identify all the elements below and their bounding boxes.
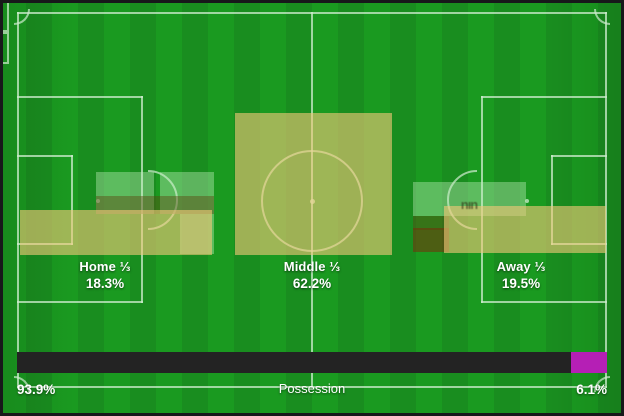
possession-bar <box>17 352 607 373</box>
home-third-name: Home ⅓ <box>15 258 195 275</box>
home-third-label-group: Home ⅓ 18.3% <box>15 258 195 292</box>
goal-area-left-top-line <box>17 155 73 157</box>
possession-label: Possession <box>17 378 607 400</box>
pitch-visualization: nın Home ⅓ 18.3% Middle ⅓ 62.2% Away ⅓ 1… <box>0 0 624 416</box>
home-third-value: 18.3% <box>15 275 195 292</box>
middle-third-territory-block <box>235 113 392 255</box>
possession-bar-track <box>17 352 607 373</box>
goal-line-right <box>605 12 607 388</box>
penalty-area-left-bottom-line <box>17 301 143 303</box>
home-third-territory-bar <box>20 210 212 255</box>
goal-frame-left <box>0 0 9 32</box>
away-third-label-group: Away ⅓ 19.5% <box>431 258 611 292</box>
penalty-area-left-top-line <box>17 96 143 98</box>
middle-third-name: Middle ⅓ <box>222 258 402 275</box>
possession-bar-away-segment <box>571 352 607 373</box>
penalty-area-right-top-line <box>481 96 607 98</box>
goal-line-left <box>17 12 19 388</box>
away-third-value: 19.5% <box>431 275 611 292</box>
possession-bar-home-segment <box>17 352 571 373</box>
middle-third-value: 62.2% <box>222 275 402 292</box>
goal-area-right-top-line <box>551 155 607 157</box>
goal-frame-right <box>0 32 9 64</box>
middle-third-label-group: Middle ⅓ 62.2% <box>222 258 402 292</box>
away-third-name: Away ⅓ <box>431 258 611 275</box>
overlay-artefact-text: nın <box>452 196 486 214</box>
possession-legend: 93.9% Possession 6.1% <box>17 378 607 400</box>
penalty-area-right-bottom-line <box>481 301 607 303</box>
